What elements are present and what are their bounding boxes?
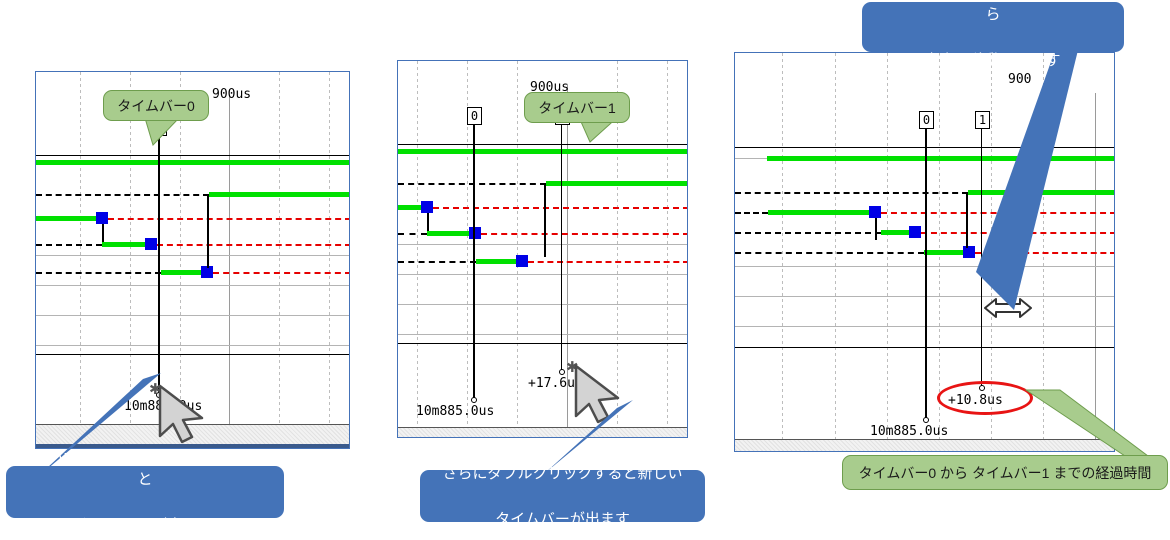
timebar-0-time: 10m885.0us xyxy=(416,404,494,419)
green-callout-2-text: タイムバー1 xyxy=(528,96,626,120)
gridline-h xyxy=(398,304,687,305)
signal-trace xyxy=(546,181,687,186)
green-callout-3: タイムバー0 から タイムバー1 までの経過時間 xyxy=(842,455,1168,490)
signal-trace xyxy=(102,242,146,247)
signal-marker xyxy=(421,201,433,213)
separator-top xyxy=(398,144,687,145)
signal-trace xyxy=(161,270,203,275)
signal-trace xyxy=(209,192,349,197)
blue-callout-1-text: 下のエリアでダブルクリックすると タイムバーが出ます xyxy=(6,444,284,540)
threshold-dashed xyxy=(36,244,102,246)
gridline-h xyxy=(36,345,349,346)
blue-callout-3-text: タイムバーは左クリックしながら 左右に移動できます xyxy=(862,0,1124,75)
blue-callout-3: タイムバーは左クリックしながら 左右に移動できます xyxy=(862,2,1124,52)
blue-callout-2: さらにダブルクリックすると新しい タイムバーが出ます xyxy=(420,470,705,522)
mouse-pointer-icon-1 xyxy=(158,384,216,446)
threshold-dashed xyxy=(36,272,161,274)
timebar-0-handle[interactable]: 0 xyxy=(467,107,482,125)
signal-trace xyxy=(398,205,422,210)
gridline-v xyxy=(517,61,518,437)
signal-trace xyxy=(768,210,870,215)
signal-marker xyxy=(869,206,881,218)
signal-trace xyxy=(36,160,349,165)
panel-status-strip xyxy=(398,427,687,437)
timebar-0-line[interactable] xyxy=(925,129,927,419)
green-callout-1-text: タイムバー0 xyxy=(107,94,205,118)
blue-callout-2-text: さらにダブルクリックすると新しい タイムバーが出ます xyxy=(422,459,702,534)
threshold-dashed xyxy=(36,194,209,196)
timebar-1-line[interactable] xyxy=(561,125,562,371)
timebar-0-handle[interactable]: 0 xyxy=(919,111,934,129)
separator-bottom xyxy=(398,343,687,344)
timebar-0-knob[interactable] xyxy=(471,397,477,403)
signal-trace xyxy=(398,149,687,154)
threshold-dashed xyxy=(735,252,924,254)
blue-callout-2-line1: さらにダブルクリックすると新しい xyxy=(432,461,692,486)
threshold-dashed xyxy=(398,233,427,235)
separator-bottom xyxy=(36,354,349,355)
blue-callout-2-line2: タイムバーが出ます xyxy=(432,507,692,532)
timebar-0-knob[interactable] xyxy=(923,417,929,423)
threshold-red xyxy=(481,233,687,235)
signal-marker xyxy=(96,212,108,224)
threshold-red xyxy=(528,261,687,263)
timebar-0-line[interactable] xyxy=(158,136,160,394)
threshold-dashed xyxy=(735,212,768,214)
gridline-h xyxy=(398,334,687,335)
blue-callout-1-line2: タイムバーが出ます xyxy=(16,513,274,538)
separator-top xyxy=(36,155,349,156)
blue-callout-1-line1: 下のエリアでダブルクリックすると xyxy=(16,446,274,492)
green-callout-3-text: タイムバー0 から タイムバー1 までの経過時間 xyxy=(849,461,1162,485)
timebar-0-time: 10m885.0us xyxy=(870,424,948,439)
signal-marker xyxy=(516,255,528,267)
threshold-dashed xyxy=(735,192,968,194)
signal-marker xyxy=(145,238,157,250)
gridline-h xyxy=(36,315,349,316)
gridline-h xyxy=(398,244,687,245)
signal-marker xyxy=(909,226,921,238)
signal-connector xyxy=(544,183,546,257)
signal-trace xyxy=(924,250,964,255)
gridline-h xyxy=(398,274,687,275)
green-callout-tail-1 xyxy=(145,118,185,146)
signal-connector xyxy=(875,218,877,240)
signal-trace xyxy=(36,216,97,221)
signal-marker xyxy=(469,227,481,239)
green-callout-1: タイムバー0 xyxy=(103,90,209,121)
signal-connector xyxy=(207,194,209,268)
gridline-h xyxy=(36,255,349,256)
signal-trace xyxy=(881,230,910,235)
tutorial-figure: 0 10m885.0us 900us タイムバー0 ✱ 下のエリアでダブルクリッ… xyxy=(0,0,1170,524)
threshold-dashed xyxy=(398,261,476,263)
axis-label-900us: 900us xyxy=(212,87,251,102)
blue-callout-tail-3 xyxy=(962,42,1082,312)
gridline-v xyxy=(667,61,668,437)
threshold-dashed xyxy=(735,232,881,234)
blue-callout-3-line2: 左右に移動できます xyxy=(872,48,1114,73)
elapsed-time-highlight xyxy=(937,381,1033,415)
signal-trace xyxy=(427,231,470,236)
threshold-red xyxy=(108,218,349,220)
gridline-h xyxy=(36,285,349,286)
signal-trace xyxy=(476,259,518,264)
gridline-v xyxy=(329,72,330,448)
threshold-dashed xyxy=(398,183,546,185)
blue-callout-3-line1: タイムバーは左クリックしながら xyxy=(872,0,1114,27)
threshold-red xyxy=(213,272,349,274)
green-callout-2: タイムバー1 xyxy=(524,92,630,123)
gridline-v xyxy=(417,61,418,437)
timebar-1-knob[interactable] xyxy=(559,369,565,375)
threshold-red xyxy=(433,207,687,209)
blue-callout-1: 下のエリアでダブルクリックすると タイムバーが出ます xyxy=(6,466,284,518)
timebar-0-line[interactable] xyxy=(473,125,475,399)
gridline-v xyxy=(279,72,280,448)
threshold-red xyxy=(157,244,349,246)
